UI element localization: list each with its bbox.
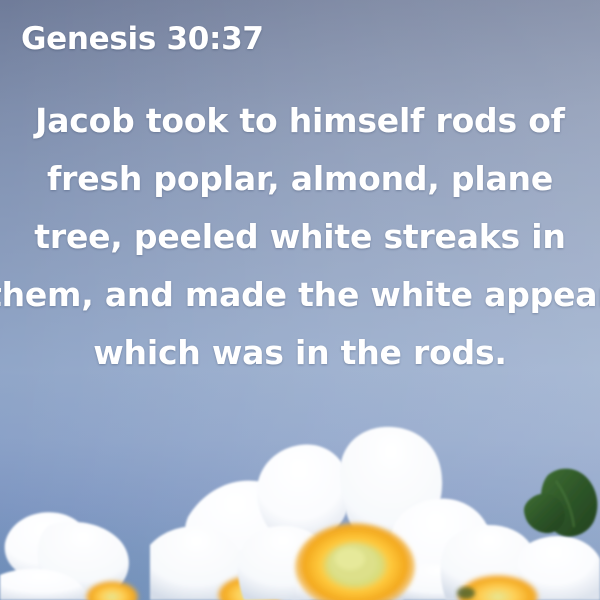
flower-speck (457, 587, 475, 599)
verse-line-5: which was in the rods. (0, 324, 600, 382)
flower-cluster (0, 425, 600, 600)
verse-text-block: Jacob took to himself rods of fresh popl… (0, 92, 600, 382)
verse-line-4: them, and made the white appear (0, 266, 600, 324)
scripture-reference: Genesis 30:37 (21, 21, 264, 57)
verse-image-card: Genesis 30:37 Jacob took to himself rods… (0, 0, 600, 600)
verse-line-1: Jacob took to himself rods of (0, 92, 600, 150)
flower-leaf (524, 469, 597, 537)
verse-line-3: tree, peeled white streaks in (0, 208, 600, 266)
verse-line-2: fresh poplar, almond, plane (0, 150, 600, 208)
flower-left (0, 512, 138, 600)
